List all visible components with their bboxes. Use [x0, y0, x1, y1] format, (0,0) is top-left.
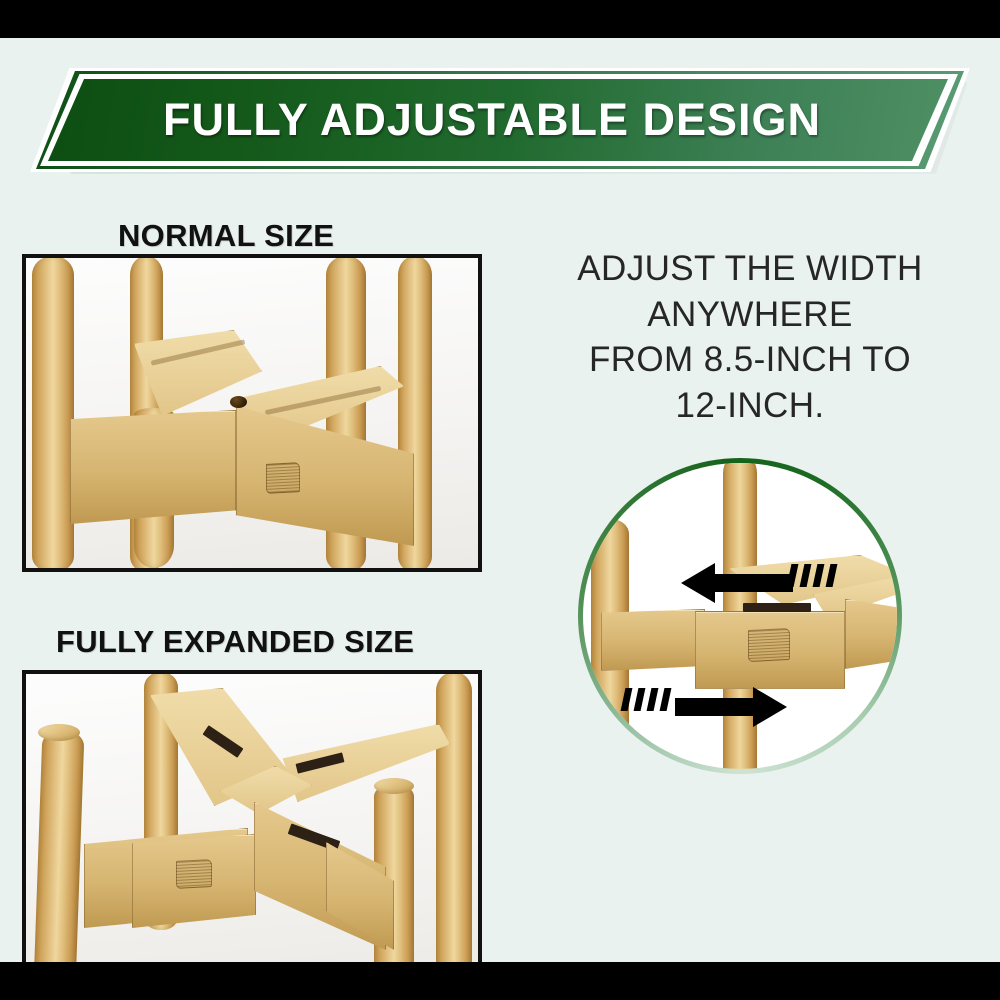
- leg-expanded-left: [34, 729, 85, 962]
- detail-brand-stamp: [748, 628, 790, 662]
- detail-brace-face-right: [845, 599, 897, 669]
- section-label-normal-size: NORMAL SIZE: [118, 218, 334, 254]
- banner-green-fill: FULLY ADJUSTABLE DESIGN: [48, 79, 948, 161]
- photo-normal-size: [22, 254, 482, 572]
- infographic-stage: FULLY ADJUSTABLE DESIGN NORMAL SIZE: [0, 0, 1000, 1000]
- header-banner: FULLY ADJUSTABLE DESIGN: [8, 62, 992, 182]
- brand-stamp-normal: [266, 462, 300, 494]
- description-line-4: 12-INCH.: [520, 383, 980, 429]
- leg-top-expanded-right-inner: [374, 778, 414, 794]
- leg-expanded-far-right: [436, 674, 472, 962]
- detail-brace-face-left: [601, 609, 705, 671]
- description-line-3: FROM 8.5-INCH TO: [520, 337, 980, 383]
- photo-normal-scene: [26, 258, 478, 568]
- description-text: ADJUST THE WIDTH ANYWHERE FROM 8.5-INCH …: [520, 246, 980, 428]
- description-line-1: ADJUST THE WIDTH: [520, 246, 980, 292]
- letterbox-bar-bottom: [0, 962, 1000, 1000]
- detail-circle-photo: [583, 463, 897, 769]
- description-line-2: ANYWHERE: [520, 292, 980, 338]
- photo-fully-expanded-size: [22, 670, 482, 962]
- brace-face-front-right: [236, 406, 414, 546]
- brand-stamp-expanded: [176, 859, 212, 889]
- content-canvas: FULLY ADJUSTABLE DESIGN NORMAL SIZE: [0, 38, 1000, 962]
- photo-expanded-scene: [26, 674, 478, 962]
- section-label-fully-expanded-size: FULLY EXPANDED SIZE: [56, 624, 414, 660]
- page-title: FULLY ADJUSTABLE DESIGN: [163, 94, 821, 146]
- detail-brace-slot: [743, 603, 811, 612]
- brace-face-front-left: [70, 410, 236, 524]
- leg-top-expanded-left: [38, 724, 80, 741]
- detail-circle-callout: [578, 458, 902, 774]
- letterbox-bar-top: [0, 0, 1000, 38]
- center-pin-hole: [230, 396, 247, 408]
- leg-far-left: [32, 258, 74, 568]
